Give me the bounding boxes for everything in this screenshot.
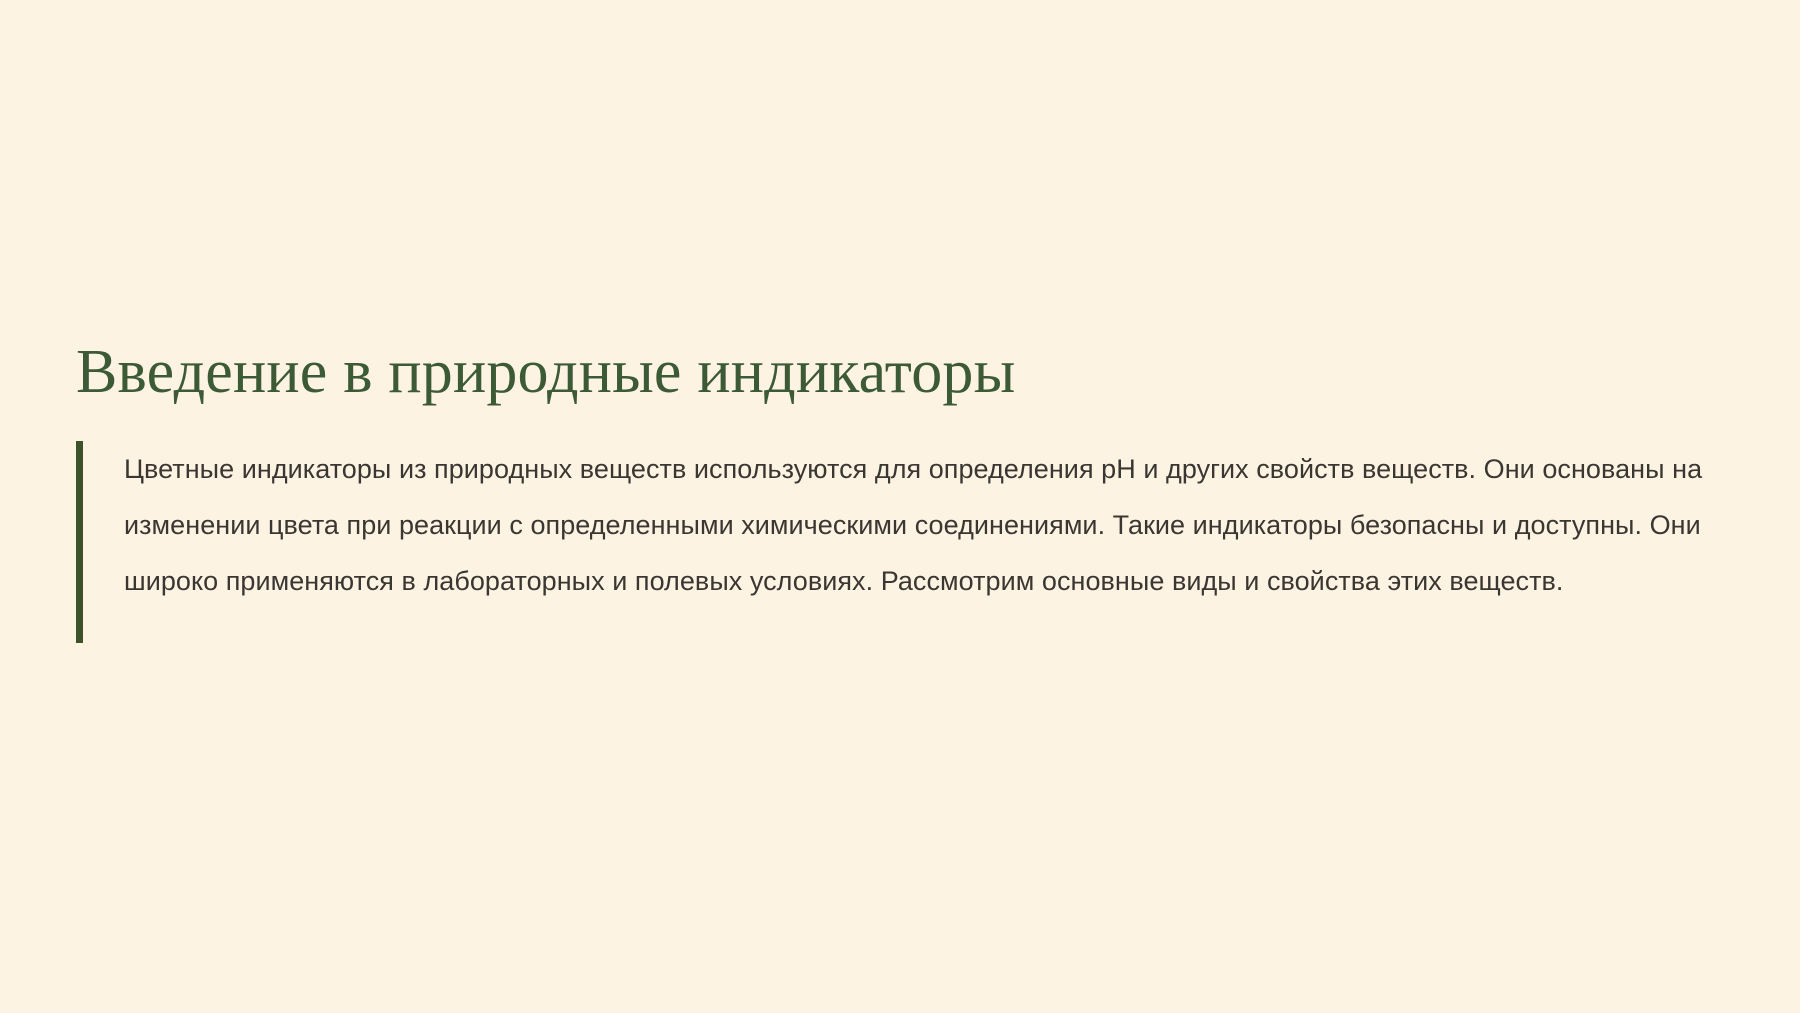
accent-bar <box>76 441 83 643</box>
slide-canvas: Введение в природные индикаторы Цветные … <box>0 0 1800 1013</box>
slide-content: Введение в природные индикаторы Цветные … <box>76 338 1724 609</box>
body-paragraph: Цветные индикаторы из природных веществ … <box>124 441 1724 609</box>
body-callout: Цветные индикаторы из природных веществ … <box>76 441 1724 609</box>
page-title: Введение в природные индикаторы <box>76 338 1724 407</box>
